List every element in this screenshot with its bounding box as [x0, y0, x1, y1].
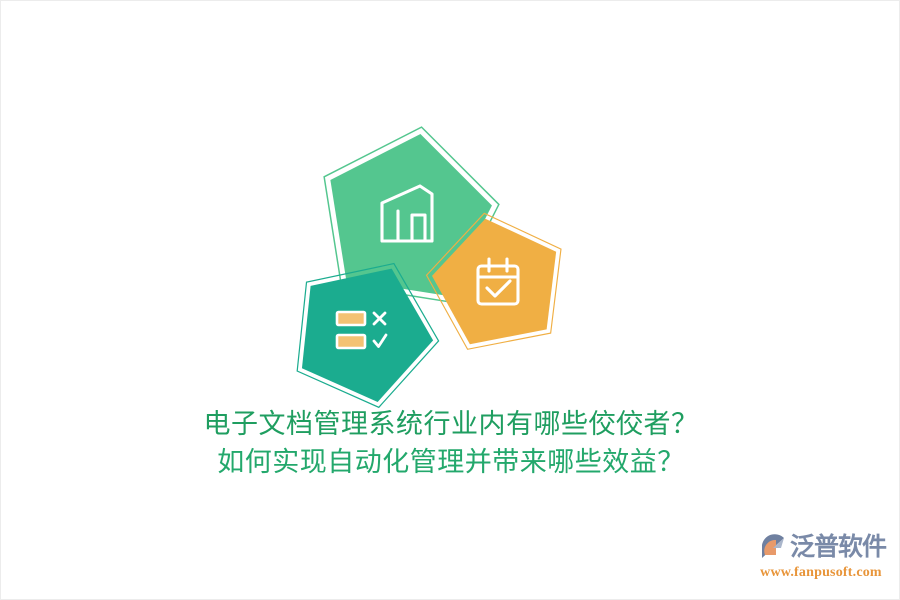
- brand-watermark: 泛普软件 www.fanpusoft.com: [759, 531, 883, 587]
- page-canvas: 电子文档管理系统行业内有哪些佼佼者？ 如何实现自动化管理并带来哪些效益？ 泛普软…: [0, 0, 900, 600]
- headline-line-2: 如何实现自动化管理并带来哪些效益？: [1, 443, 900, 481]
- brand-row: 泛普软件: [759, 531, 883, 565]
- fanpu-arc-logo-icon: [759, 534, 787, 562]
- pentagon-cluster-graphic: [1, 1, 900, 421]
- headline-block: 电子文档管理系统行业内有哪些佼佼者？ 如何实现自动化管理并带来哪些效益？: [1, 405, 900, 481]
- headline-line-1: 电子文档管理系统行业内有哪些佼佼者？: [1, 405, 900, 443]
- brand-url: www.fanpusoft.com: [759, 565, 883, 581]
- brand-name: 泛普软件: [790, 534, 886, 562]
